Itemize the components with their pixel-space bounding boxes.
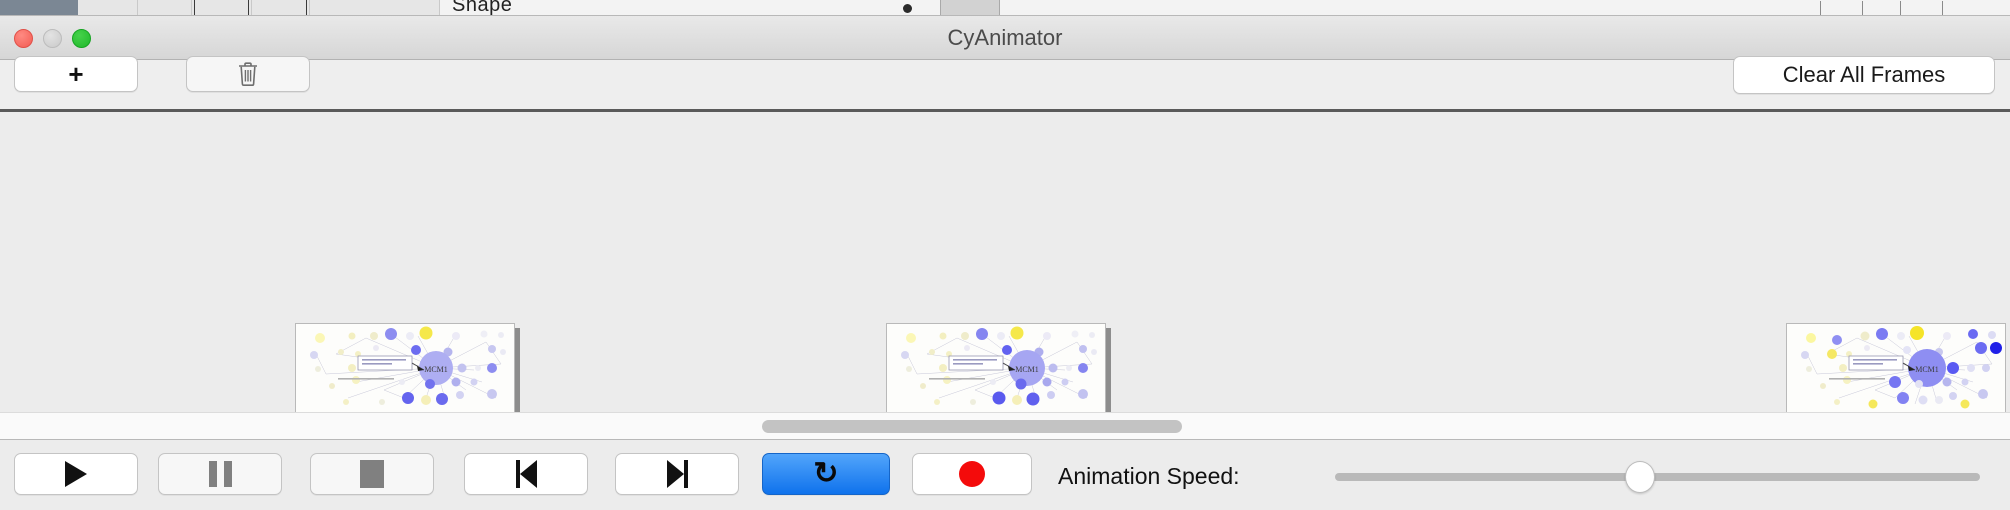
loop-button[interactable]: ↻ (762, 453, 890, 495)
background-dark-panel (0, 0, 78, 16)
animation-speed-slider[interactable] (1335, 473, 1980, 481)
background-window-label: Shape (452, 0, 512, 16)
background-segment (192, 0, 252, 16)
animation-speed-label: Animation Speed: (1058, 463, 1240, 490)
background-dot (903, 4, 912, 13)
loop-icon: ↻ (813, 459, 838, 489)
playback-toolbar: ↻ Animation Speed: (0, 441, 2010, 510)
background-segment (310, 0, 440, 16)
thumbnail-network-image: MCM1 (886, 323, 1106, 412)
background-slash (1820, 1, 1821, 15)
skip-previous-button[interactable] (464, 453, 588, 495)
background-window-strip: Shape (0, 0, 2010, 16)
slider-track[interactable] (1335, 473, 1980, 481)
skip-next-button[interactable] (615, 453, 739, 495)
background-tick (194, 0, 195, 16)
background-tick (248, 0, 249, 16)
skip-previous-icon (516, 460, 537, 488)
background-segment (252, 0, 310, 16)
svg-text:MCM1: MCM1 (1015, 365, 1039, 374)
stop-icon (360, 460, 384, 488)
timeline-horizontal-scrollbar[interactable] (0, 412, 2010, 440)
background-tick (306, 0, 307, 16)
cyanimator-window: Shape CyAnimator + Clear All Frames (0, 0, 2010, 510)
slider-thumb[interactable] (1625, 461, 1655, 493)
background-slash (1942, 1, 1943, 15)
thumbnail-network-image: MCM1 (295, 323, 515, 412)
background-segment (138, 0, 192, 16)
clear-all-frames-button[interactable]: Clear All Frames (1733, 56, 1995, 94)
record-icon (959, 461, 985, 487)
background-segment (78, 0, 138, 16)
pause-icon (209, 461, 232, 487)
skip-next-icon (667, 460, 688, 488)
add-frame-button[interactable]: + (14, 56, 138, 92)
timeline-frame-thumbnail[interactable]: MCM1 (1786, 323, 2006, 412)
pause-button[interactable] (158, 453, 282, 495)
svg-text:MCM1: MCM1 (424, 365, 448, 374)
svg-text:MCM1: MCM1 (1915, 365, 1939, 374)
play-button[interactable] (14, 453, 138, 495)
background-slash (1862, 1, 1863, 15)
timeline-frame-thumbnail[interactable]: MCM1 (886, 323, 1106, 412)
title-bar[interactable]: CyAnimator (0, 16, 2010, 60)
background-selected-tab (940, 0, 1000, 16)
scrollbar-thumb[interactable] (762, 420, 1182, 433)
background-slash (1900, 1, 1901, 15)
play-icon (65, 461, 87, 487)
stop-button[interactable] (310, 453, 434, 495)
record-button[interactable] (912, 453, 1032, 495)
timeline-panel[interactable]: MCM1 (0, 112, 2010, 412)
thumbnail-network-image: MCM1 (1786, 323, 2006, 412)
trash-icon (237, 61, 259, 87)
plus-icon: + (68, 61, 83, 87)
delete-frame-button[interactable] (186, 56, 310, 92)
window-title: CyAnimator (0, 16, 2010, 60)
timeline-frame-thumbnail[interactable]: MCM1 (295, 323, 515, 412)
